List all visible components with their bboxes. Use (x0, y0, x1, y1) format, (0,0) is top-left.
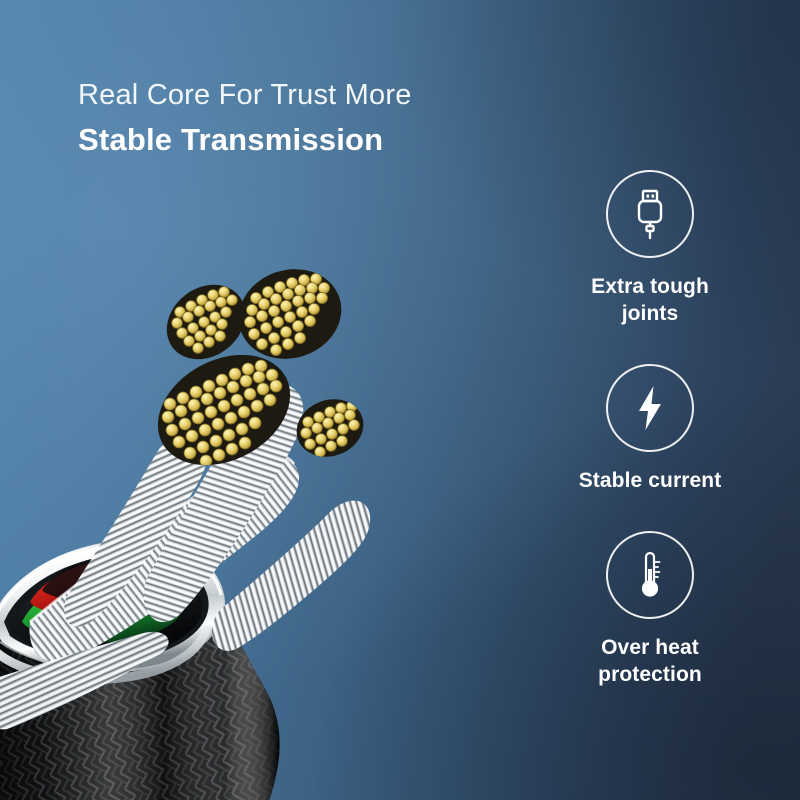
feature-label: Over heat protection (524, 635, 776, 689)
thermometer-icon (606, 531, 694, 619)
feature-list: Extra tough joints Stable current (524, 170, 776, 724)
headline-line-2: Stable Transmission (78, 120, 548, 161)
feature-label: Stable current (524, 468, 776, 495)
headline-block: Real Core For Trust More Stable Transmis… (78, 76, 548, 161)
headline-line-1: Real Core For Trust More (78, 76, 548, 114)
feature-label-line-2: joints (524, 301, 776, 328)
usb-plug-icon (606, 170, 694, 258)
feature-label-line-1: Over heat (524, 635, 776, 662)
feature-label: Extra tough joints (524, 274, 776, 328)
feature-label-line-1: Stable current (524, 468, 776, 495)
feature-over-heat-protection: Over heat protection (524, 531, 776, 689)
lightning-bolt-icon (606, 364, 694, 452)
feature-label-line-2: protection (524, 662, 776, 689)
feature-stable-current: Stable current (524, 364, 776, 495)
feature-extra-tough-joints: Extra tough joints (524, 170, 776, 328)
product-banner: Real Core For Trust More Stable Transmis… (0, 0, 800, 800)
feature-label-line-1: Extra tough (524, 274, 776, 301)
